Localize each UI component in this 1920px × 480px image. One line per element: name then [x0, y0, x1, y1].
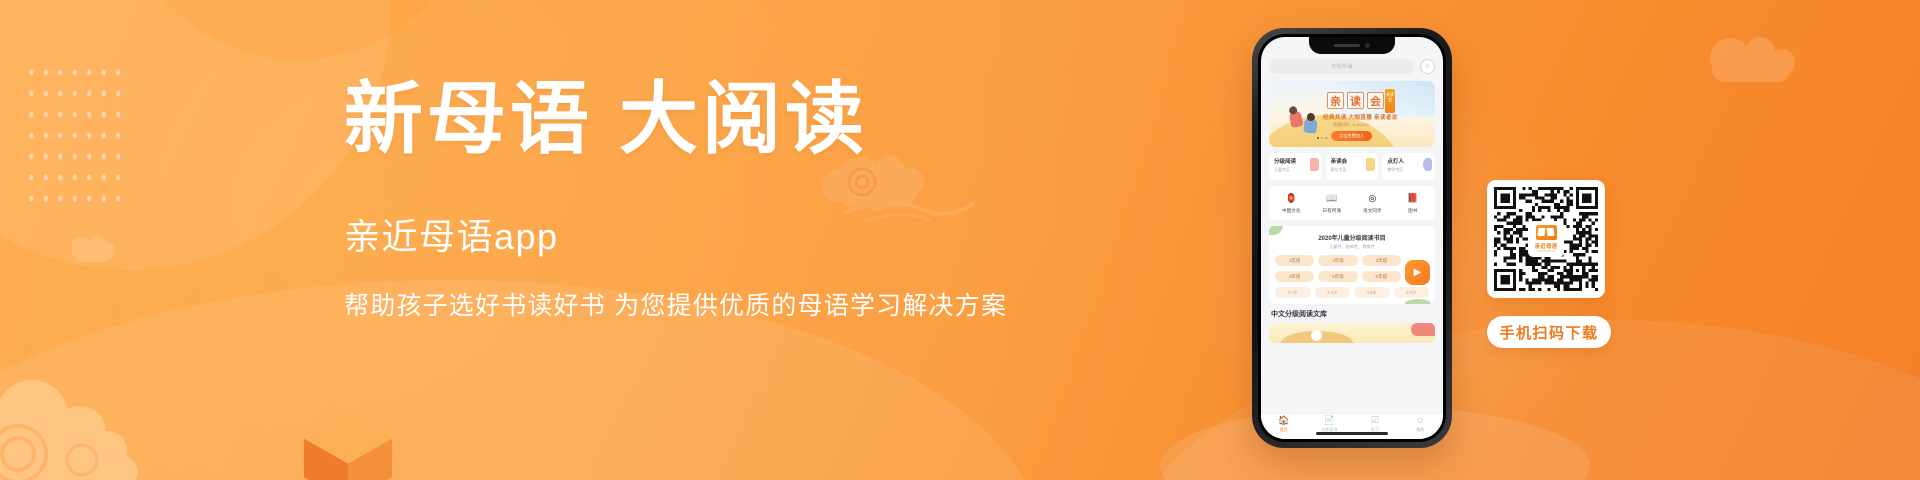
book-open-icon: 📖 [1325, 192, 1338, 205]
quick-links: 🏮 中国文化 📖 日有所诵 ◎ 语文同步 📕 [1269, 186, 1435, 220]
age-row: 0-3岁 3-4岁 4-5岁 5-6岁 [1275, 287, 1429, 298]
zone-card-parent[interactable]: 亲读会 家长专区 [1326, 153, 1379, 180]
copy-block: 新母语大阅读 亲近母语app 帮助孩子选好书读好书 为您提供优质的母语学习解决方… [344, 80, 1044, 322]
tab-label: 首页 [1261, 427, 1307, 433]
search-placeholder: 日有所诵 [1331, 63, 1353, 70]
checklist-icon: ☑ [1352, 416, 1398, 425]
chinese-cloud-icon [0, 354, 222, 480]
promo-banner: 新母语大阅读 亲近母语app 帮助孩子选好书读好书 为您提供优质的母语学习解决方… [0, 0, 1920, 480]
tab-study[interactable]: ☑ 学习 [1352, 416, 1398, 433]
grade-chip[interactable]: 2年级 [1318, 255, 1357, 266]
library-card[interactable] [1269, 323, 1435, 343]
chinese-cloud-icon-top-right [1690, 28, 1840, 108]
speaker-grille [1334, 44, 1360, 47]
qr-code-card[interactable]: 亲近母语 QINJIN MUYU [1487, 180, 1605, 298]
booklist-card: 2020年儿童分级阅读书目 儿童性、经典性、教育性 ▶ 1年级 2年级 3年级 … [1269, 226, 1435, 304]
grade-chip[interactable]: 6年级 [1362, 271, 1401, 282]
circle-shape-secondary [118, 0, 478, 60]
phone-bezel: 日有所诵 ☆ 亲 读 会 亲读会 [1258, 34, 1446, 442]
tab-home[interactable]: 🏠 首页 [1261, 416, 1307, 433]
quick-link-books[interactable]: 📕 图书 [1393, 192, 1434, 214]
age-chip[interactable]: 0-3岁 [1275, 287, 1311, 298]
page-title: 新母语大阅读 [344, 80, 1044, 162]
hero-ribbon: 亲读会 [1385, 89, 1395, 113]
card-tag [1411, 323, 1435, 336]
tab-profile[interactable]: ☺ 我的 [1398, 416, 1444, 433]
age-chip[interactable]: 5-6岁 [1394, 287, 1430, 298]
leaf-decoration [1405, 299, 1431, 304]
carousel-dots[interactable] [1317, 137, 1328, 139]
quick-link-sync[interactable]: ◎ 语文同步 [1352, 192, 1393, 214]
carousel-dot[interactable] [1321, 137, 1323, 139]
age-chip[interactable]: 3-4岁 [1315, 287, 1351, 298]
phone-notch [1309, 37, 1395, 54]
grade-chip[interactable]: 1年级 [1275, 255, 1314, 266]
grade-chip[interactable]: 4年级 [1275, 271, 1314, 282]
book-icon: 📕 [1406, 192, 1419, 205]
headline-part-2: 大阅读 [619, 77, 868, 164]
bottom-tabbar: 🏠 首页 📄 小步读书 ☑ 学习 ☺ 我的 [1261, 413, 1443, 439]
app-name-subtitle: 亲近母语app [344, 208, 1044, 260]
chat-icon[interactable]: ☆ [1420, 59, 1435, 74]
download-block: 亲近母语 QINJIN MUYU 手机扫码下载 [1487, 180, 1611, 348]
bookmark-icon [1310, 158, 1319, 171]
hero-title-char-2: 读 [1347, 92, 1364, 109]
lantern-icon: 🏮 [1285, 192, 1298, 205]
tagline: 帮助孩子选好书读好书 为您提供优质的母语学习解决方案 [344, 286, 1044, 322]
hero-title: 亲 读 会 [1327, 92, 1384, 109]
booklist-title: 2020年儿童分级阅读书目 [1275, 233, 1429, 242]
sync-icon: ◎ [1366, 192, 1379, 205]
hero-join-button[interactable]: 点击免费加入 [1331, 131, 1372, 141]
hero-title-char-3: 会 [1367, 92, 1384, 109]
search-row: 日有所诵 ☆ [1269, 59, 1435, 74]
hero-child-illustration-b [1303, 117, 1317, 133]
zone-card-graded-reading[interactable]: 分级阅读 儿童专区 [1269, 153, 1322, 180]
download-button[interactable]: 手机扫码下载 [1487, 316, 1611, 348]
hero-date: 直播时间：9.16-9.27 [1333, 122, 1370, 128]
front-camera-icon [1365, 43, 1370, 48]
cube-shape [300, 406, 396, 480]
search-input[interactable]: 日有所诵 [1269, 59, 1415, 74]
hero-subtitle: 经典共读 大咖直播 亲读者说 [1323, 113, 1398, 121]
headline-part-1: 新母语 [344, 77, 593, 164]
hero-banner[interactable]: 亲 读 会 亲读会 经典共读 大咖直播 亲读者说 直播时间：9.16-9.27 … [1269, 81, 1435, 147]
grade-chip[interactable]: 5年级 [1318, 271, 1357, 282]
quick-link-label: 图书 [1393, 208, 1434, 214]
carousel-dot[interactable] [1317, 137, 1319, 139]
booklist-subtitle: 儿童性、经典性、教育性 [1275, 244, 1429, 250]
app-content: 日有所诵 ☆ 亲 读 会 亲读会 [1261, 37, 1443, 439]
circle-shape [0, 0, 390, 270]
phone-mockup: 日有所诵 ☆ 亲 读 会 亲读会 [1252, 28, 1452, 448]
quick-link-label: 语文同步 [1352, 208, 1393, 214]
book-logo-icon [1536, 225, 1557, 240]
carousel-dot[interactable] [1325, 137, 1327, 139]
bookmark-icon [1366, 158, 1375, 171]
zone-cards: 分级阅读 儿童专区 亲读会 家长专区 点灯人 教师专区 [1269, 153, 1435, 180]
quick-link-label: 日有所诵 [1312, 208, 1353, 214]
qr-logo-en: QINJIN MUYU [1537, 250, 1556, 253]
user-icon: ☺ [1398, 416, 1444, 425]
library-section-title: 中文分级阅读文库 [1271, 309, 1435, 319]
list-icon: 📄 [1307, 416, 1353, 425]
video-play-icon[interactable]: ▶ [1405, 260, 1430, 285]
person-icon [1423, 158, 1432, 171]
home-indicator [1316, 432, 1388, 435]
age-chip[interactable]: 4-5岁 [1354, 287, 1390, 298]
home-icon: 🏠 [1261, 416, 1307, 425]
quick-link-chinese-culture[interactable]: 🏮 中国文化 [1271, 192, 1312, 214]
sun-illustration [1311, 330, 1322, 341]
chinese-cloud-icon-small [66, 232, 126, 266]
tab-label: 我的 [1398, 427, 1444, 433]
quick-link-label: 中国文化 [1271, 208, 1312, 214]
hero-title-char-1: 亲 [1327, 92, 1344, 109]
qr-logo-cn: 亲近母语 [1535, 242, 1558, 250]
qr-center-logo: 亲近母语 QINJIN MUYU [1528, 221, 1564, 257]
phone-screen: 日有所诵 ☆ 亲 读 会 亲读会 [1261, 37, 1443, 439]
quick-link-daily-recite[interactable]: 📖 日有所诵 [1312, 192, 1353, 214]
hero-child-illustration-a [1288, 110, 1303, 128]
dot-grid-pattern [24, 62, 128, 210]
zone-card-teacher[interactable]: 点灯人 教师专区 [1382, 153, 1435, 180]
grade-chip[interactable]: 3年级 [1362, 255, 1401, 266]
tab-reading[interactable]: 📄 小步读书 [1307, 416, 1353, 433]
